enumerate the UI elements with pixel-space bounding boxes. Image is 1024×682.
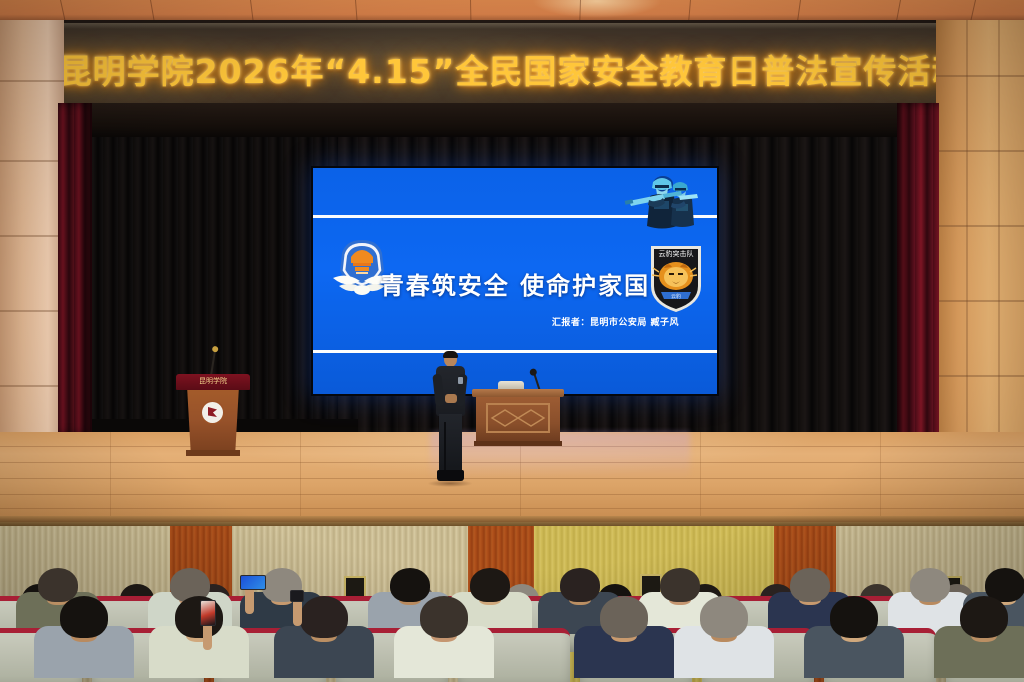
wall-seam [0,160,64,162]
floor-joint-line [300,432,301,520]
led-screen: 云豹 云豹突击队 青春筑安全 使命护家国 汇报者：昆明市公安局 臧子风 [313,168,717,394]
audience-person-head [600,596,648,638]
audience-person-head [390,568,430,602]
audience-person-head [700,596,748,638]
audience-raised-arm [245,586,254,614]
tactical-officers-photo [623,172,701,230]
presenter-boots [437,470,464,481]
presenter-shoulder-patch [458,377,463,384]
wall-seam [936,150,1024,152]
table-top [472,389,564,397]
event-banner-board: 昆明学院2026年“4.15”全民国家安全教育日普法宣传活动 [0,20,1024,106]
presenter-hair [443,351,458,358]
presenter-hands-holding-microphone [445,394,457,403]
audience-person-head [60,596,108,638]
audience-person-head [790,568,830,602]
curtain-top-swag [58,103,938,137]
wall-seam [0,310,64,312]
audience-person-head [910,568,950,602]
wall-seam [936,375,1024,377]
left-wall-panels [0,20,64,500]
slide-presenter-line: 汇报者：昆明市公安局 臧子风 [552,315,679,328]
audience-person-head [560,568,600,602]
floor-joint-line [880,432,881,520]
wall-seam [936,225,1024,227]
floor-plank-line [0,508,1024,509]
audience-raised-arm [203,622,212,650]
audience-person-head [38,568,78,602]
floor-joint-line [700,432,701,520]
audience-raised-arm [293,598,302,626]
wall-seam [0,235,64,237]
lectern-podium: 昆明学院 [176,366,250,458]
presenter-shadow [427,480,473,487]
table-base [474,441,562,446]
left-maroon-curtain [58,103,92,435]
audience-area [0,560,1024,682]
screen-divider-line-bottom [313,350,717,353]
event-banner-text: 昆明学院2026年“4.15”全民国家安全教育日普法宣传活动 [0,45,1024,93]
table-front-panel [476,397,560,441]
audience-phone-screen[interactable] [200,600,216,626]
auditorium-photo: 昆明学院2026年“4.15”全民国家安全教育日普法宣传活动 [0,0,1024,682]
slide-title: 青春筑安全 使命护家国 [313,266,717,301]
speaker-table [472,389,564,451]
audience-person-head [660,568,700,602]
audience-person-head [300,596,348,638]
audience-person-head [830,596,878,638]
led-screen-frame: 云豹 云豹突击队 青春筑安全 使命护家国 汇报者：昆明市公安局 臧子风 [311,166,719,396]
wall-seam [0,385,64,387]
table-diamond-ornament [490,407,546,429]
floor-joint-line [110,432,111,520]
right-maroon-curtain [897,103,939,453]
shield-badge-text: 云豹突击队 [659,249,694,258]
wall-seam [936,75,1024,77]
audience-phone-screen[interactable] [290,590,304,602]
audience-person-head [470,568,510,602]
floor-plank-line [0,494,1024,495]
kunming-university-logo [202,402,223,423]
podium-base [186,450,240,456]
wall-seam [936,300,1024,302]
audience-person-head [960,596,1008,638]
wall-seam [0,80,64,82]
podium-label: 昆明学院 [176,376,250,386]
presenter-person [433,352,467,486]
audience-phone-screen[interactable] [240,575,266,590]
audience-person-head [420,596,468,638]
presenter-legs [439,414,462,472]
presenter-leg-gap [444,422,446,470]
podium-header-plate: 昆明学院 [176,374,250,390]
